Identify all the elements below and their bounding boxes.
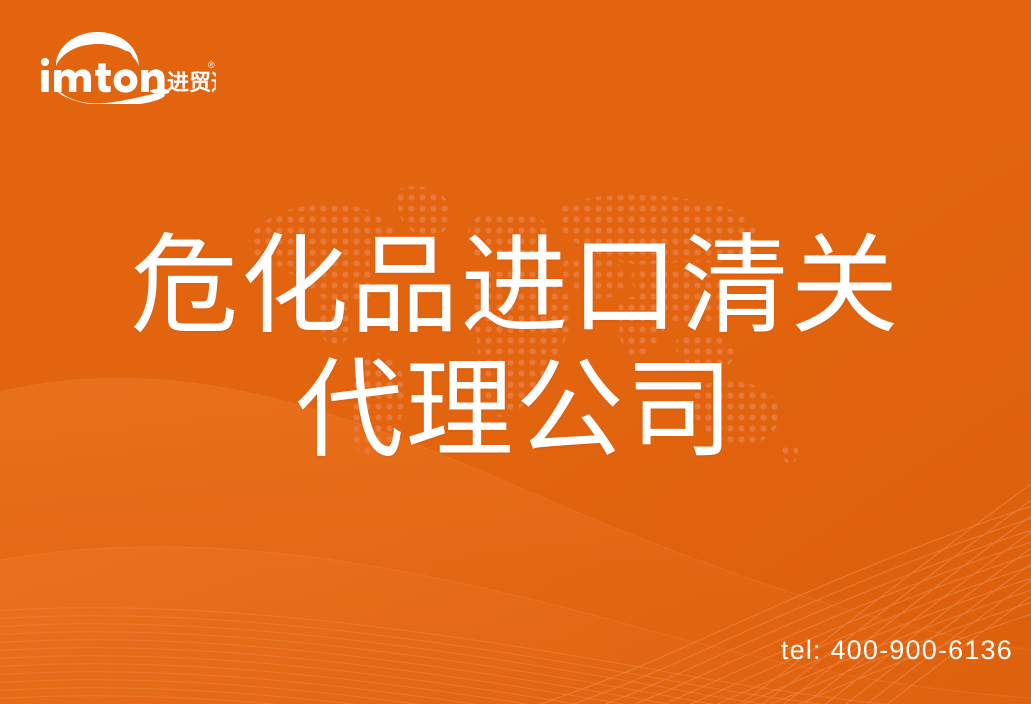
page-title: 危化品进口清关 代理公司 [0, 222, 1031, 474]
globe-icon [56, 32, 139, 66]
logo-chinese-name: 进贸通 [167, 70, 216, 95]
contact-telephone[interactable]: tel: 400-900-6136 [781, 635, 1013, 666]
imton-logo[interactable]: 进贸通 ® [38, 26, 216, 104]
wave-edge-highlight-2 [0, 547, 1031, 698]
stripe-fan-bottom-right [420, 470, 1031, 704]
headline-line-2: 代理公司 [0, 346, 1031, 474]
telephone-text: tel: 400-900-6136 [781, 635, 1013, 665]
trademark-icon: ® [208, 60, 215, 70]
wave-secondary [0, 547, 1031, 704]
promo-banner: 进贸通 ® 危化品进口清关 代理公司 tel: 400-900-6136 [0, 0, 1031, 704]
headline-line-1: 危化品进口清关 [0, 222, 1031, 350]
logo-wordmark [41, 58, 165, 93]
